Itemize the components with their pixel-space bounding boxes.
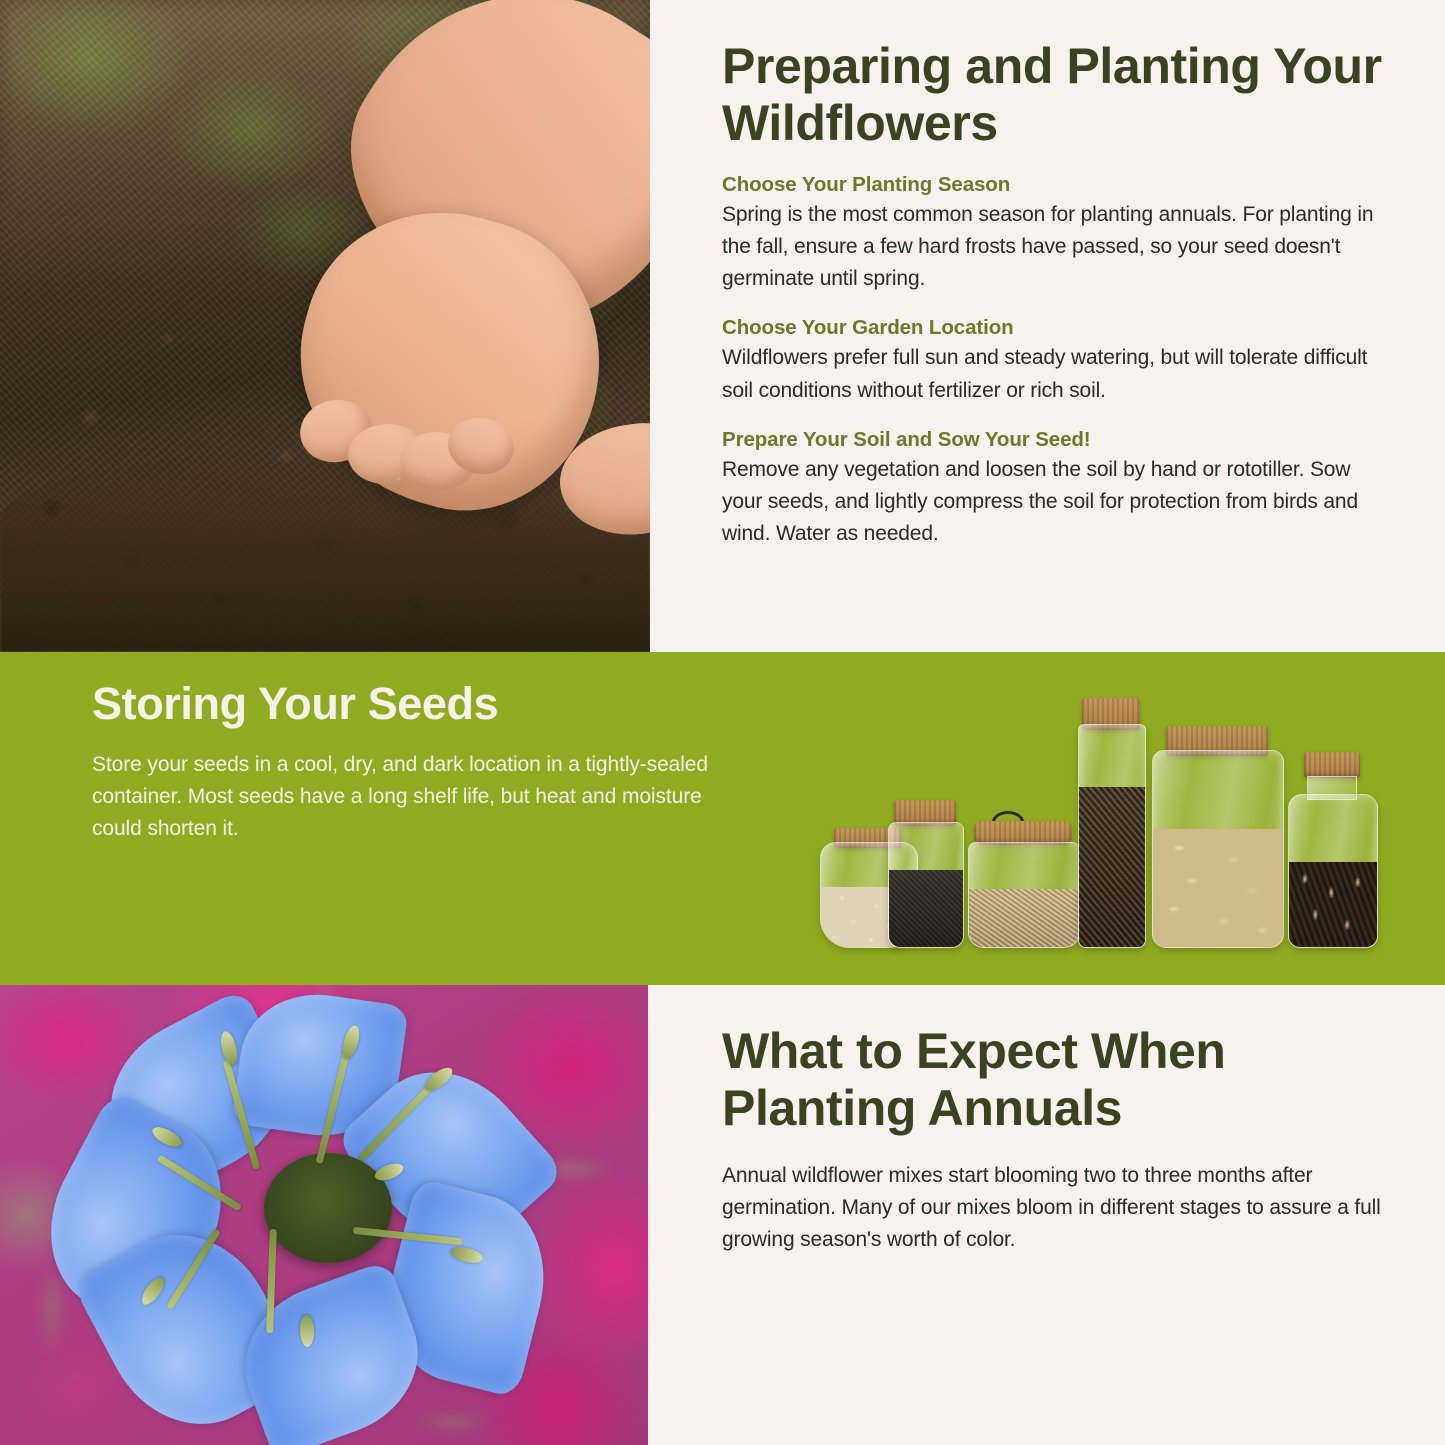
jar-sunflower-seeds — [1288, 752, 1376, 948]
page-title: Preparing and Planting Your Wildflowers — [722, 38, 1393, 151]
planting-text-column: Preparing and Planting Your Wildflowers … — [650, 0, 1445, 652]
jar-black-seeds — [888, 800, 962, 948]
blue-nigella-flower-photo — [0, 985, 648, 1445]
section-what-to-expect: What to Expect When Planting Annuals Ann… — [0, 985, 1445, 1445]
body-planting-season: Spring is the most common season for pla… — [722, 199, 1393, 295]
hand-sowing-seeds-photo — [0, 0, 650, 652]
soil-mound — [0, 452, 650, 652]
body-prepare-soil: Remove any vegetation and loosen the soi… — [722, 454, 1393, 550]
falling-seeds — [378, 448, 438, 488]
infographic-page: Preparing and Planting Your Wildflowers … — [0, 0, 1445, 1445]
section-storing-seeds: Storing Your Seeds Store your seeds in a… — [0, 652, 1445, 985]
subheading-planting-season: Choose Your Planting Season — [722, 173, 1393, 197]
subheading-prepare-soil: Prepare Your Soil and Sow Your Seed! — [722, 428, 1393, 452]
flower-center — [264, 1153, 392, 1263]
body-garden-location: Wildflowers prefer full sun and steady w… — [722, 342, 1393, 406]
jar-dark-seeds — [1078, 698, 1144, 948]
storing-body: Store your seeds in a cool, dry, and dar… — [92, 749, 732, 845]
expect-title: What to Expect When Planting Annuals — [722, 1023, 1387, 1136]
storing-title: Storing Your Seeds — [92, 680, 732, 727]
expect-text-column: What to Expect When Planting Annuals Ann… — [648, 985, 1445, 1445]
section-preparing-planting: Preparing and Planting Your Wildflowers … — [0, 0, 1445, 652]
expect-body: Annual wildflower mixes start blooming t… — [722, 1160, 1387, 1256]
storing-text-column: Storing Your Seeds Store your seeds in a… — [92, 680, 732, 845]
subheading-garden-location: Choose Your Garden Location — [722, 316, 1393, 340]
jar-pumpkin-seeds — [1152, 726, 1282, 948]
jar-tan-seeds — [968, 813, 1078, 948]
seed-jars-photo — [820, 662, 1390, 962]
